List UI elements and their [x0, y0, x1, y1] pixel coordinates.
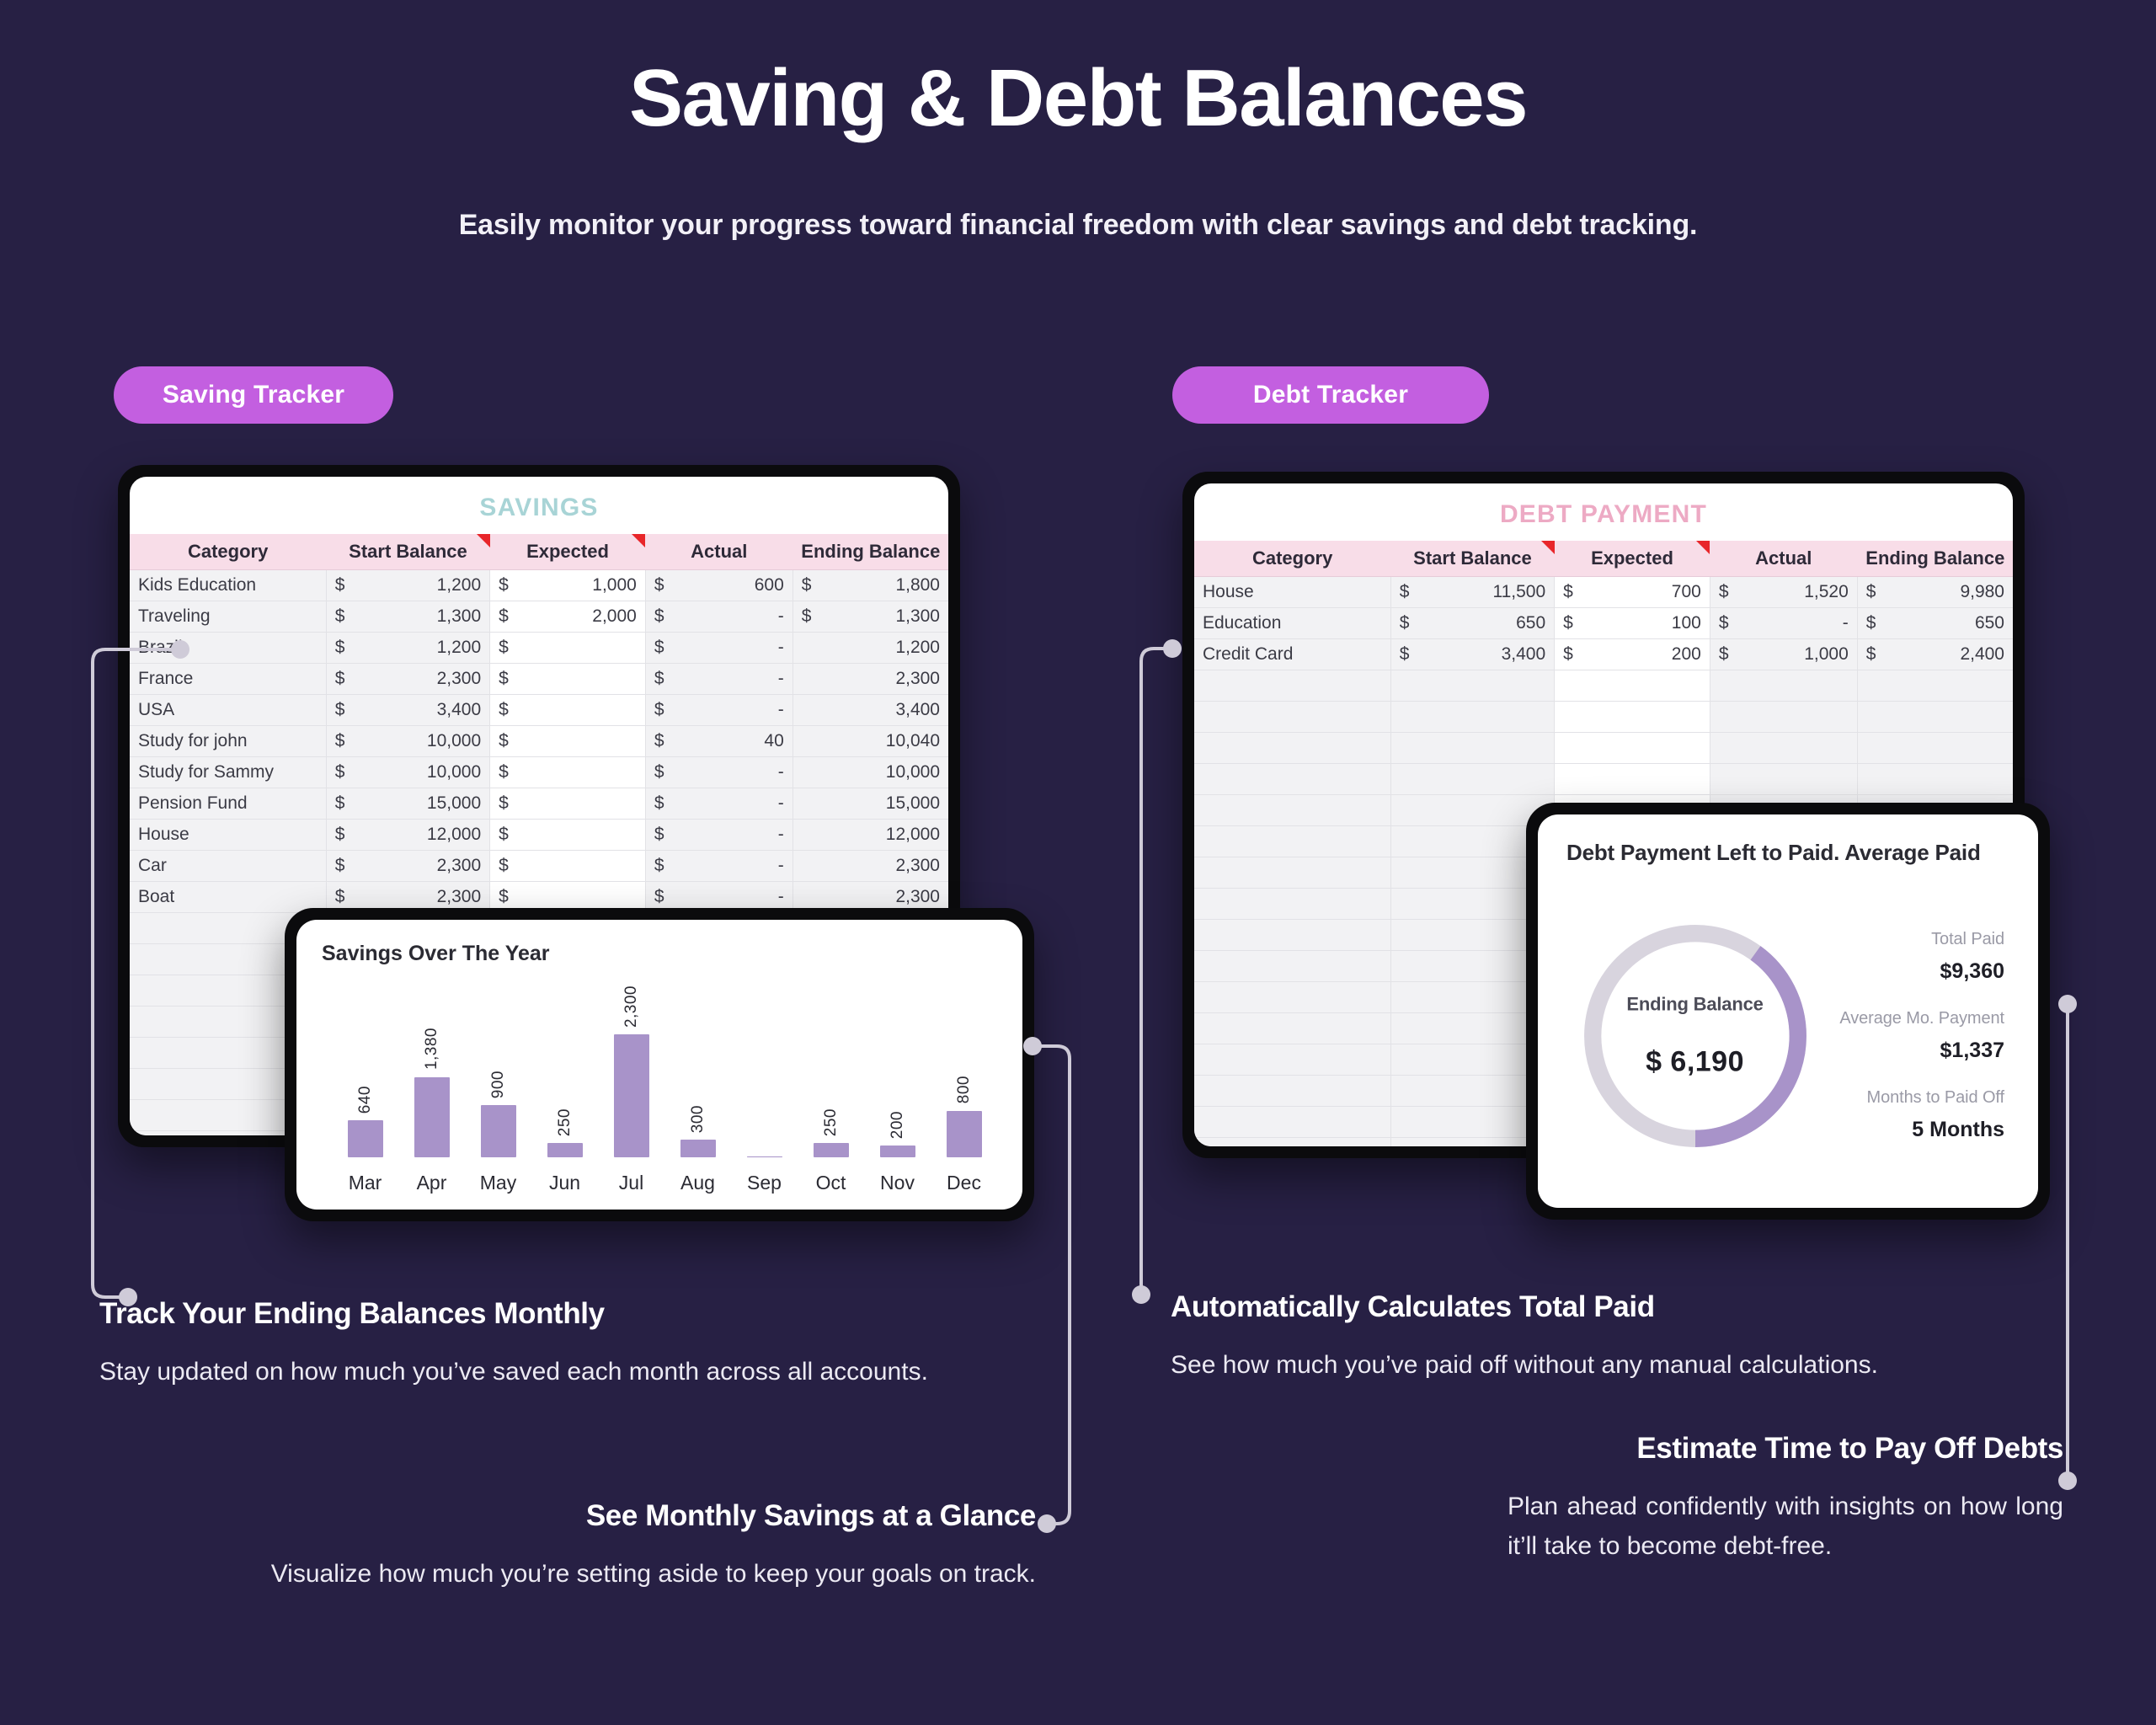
donut-card-title: Debt Payment Left to Paid. Average Paid	[1566, 840, 2009, 866]
currency-symbol: $	[1719, 613, 1729, 633]
cell-c-end[interactable]: 10,040	[792, 725, 948, 756]
cell-c-act[interactable]: $1,000	[1710, 638, 1857, 670]
cell-value: -	[778, 856, 784, 876]
col-expected[interactable]: Expected	[490, 534, 646, 569]
currency-symbol: $	[1400, 582, 1410, 602]
currency-symbol: $	[654, 700, 664, 720]
connector-dot	[1163, 639, 1182, 658]
currency-symbol: $	[335, 887, 345, 907]
cell-c-start[interactable]	[1390, 701, 1554, 732]
cell-category[interactable]	[1194, 1075, 1390, 1106]
table-row-empty[interactable]	[1194, 701, 2013, 732]
bar-value-label: 800	[955, 1076, 974, 1103]
donut-stats-list: Total Paid$9,360Average Mo. Payment$1,33…	[1823, 887, 2009, 1184]
table-row[interactable]: Brazil$1,200$$-1,200	[130, 632, 948, 663]
donut-stat: Total Paid$9,360	[1823, 930, 2004, 984]
cell-c-act[interactable]	[1710, 732, 1857, 763]
currency-symbol: $	[499, 887, 509, 907]
currency-symbol: $	[1563, 613, 1573, 633]
cell-value: 2,300	[895, 669, 940, 689]
cell-c-end[interactable]	[1857, 763, 2013, 794]
cell-value: 12,000	[886, 825, 940, 845]
cell-value: 600	[755, 575, 784, 595]
cell-c-end[interactable]: 2,300	[792, 850, 948, 881]
currency-symbol: $	[499, 606, 509, 627]
col-actual[interactable]: Actual	[1710, 541, 1857, 576]
cell-category[interactable]: Car	[130, 850, 326, 881]
currency-symbol: $	[1866, 582, 1876, 602]
table-row[interactable]: Study for john$10,000$$4010,040	[130, 725, 948, 756]
cell-category[interactable]	[1194, 919, 1390, 950]
currency-symbol: $	[499, 762, 509, 782]
debt-sheet-title: DEBT PAYMENT	[1194, 483, 2013, 541]
bar[interactable]	[814, 1143, 849, 1157]
currency-symbol: $	[499, 700, 509, 720]
cell-value: 1,000	[1804, 644, 1849, 665]
col-category[interactable]: Category	[130, 534, 326, 569]
debt-table-head: Category Start Balance Expected Actual E…	[1194, 541, 2013, 576]
x-axis-label: Jul	[598, 1172, 664, 1194]
cell-value: -	[778, 638, 784, 658]
cell-value: -	[778, 793, 784, 814]
table-row[interactable]: Traveling$1,300$2,000$-$1,300	[130, 601, 948, 632]
cell-c-act[interactable]: $-	[645, 663, 792, 694]
currency-symbol: $	[654, 575, 664, 595]
cell-category[interactable]: Credit Card	[1194, 638, 1390, 670]
currency-symbol: $	[499, 793, 509, 814]
currency-symbol: $	[335, 856, 345, 876]
caption-body: Stay updated on how much you’ve saved ea…	[99, 1353, 992, 1392]
cell-category[interactable]	[1194, 794, 1390, 825]
cell-c-end[interactable]: 10,000	[792, 756, 948, 788]
cell-c-exp[interactable]	[1555, 732, 1710, 763]
cell-value: 200	[1672, 644, 1701, 665]
savings-sheet-title: SAVINGS	[130, 477, 948, 534]
cell-c-exp white[interactable]: $700	[1555, 576, 1710, 607]
cell-value: 3,400	[895, 700, 940, 720]
currency-symbol: $	[335, 762, 345, 782]
donut-stat: Average Mo. Payment$1,337	[1823, 1009, 2004, 1063]
cell-c-exp white[interactable]: $	[490, 725, 646, 756]
currency-symbol: $	[335, 793, 345, 814]
col-ending-balance[interactable]: Ending Balance	[1857, 541, 2013, 576]
currency-symbol: $	[335, 700, 345, 720]
currency-symbol: $	[654, 638, 664, 658]
savings-chart-tablet: Savings Over The Year 6401,3809002502,30…	[285, 908, 1034, 1221]
currency-symbol: $	[1563, 644, 1573, 665]
cell-value: 1,200	[437, 575, 482, 595]
bar-column[interactable]: 200	[864, 985, 931, 1157]
cell-category[interactable]	[1194, 981, 1390, 1012]
cell-value: 15,000	[886, 793, 940, 814]
flag-triangle-icon	[477, 534, 490, 547]
cell-value: 10,040	[886, 731, 940, 751]
currency-symbol: $	[499, 669, 509, 689]
cell-c-start[interactable]: $10,000	[326, 725, 489, 756]
cell-value: 40	[764, 731, 783, 751]
cell-category[interactable]: Education	[1194, 607, 1390, 638]
cell-category[interactable]: Study for Sammy	[130, 756, 326, 788]
bar-value-label: 250	[556, 1108, 574, 1136]
x-axis-label: Dec	[931, 1172, 997, 1194]
cell-c-act[interactable]: $1,520	[1710, 576, 1857, 607]
connector-dot	[2058, 995, 2077, 1013]
cell-c-exp white[interactable]: $	[490, 788, 646, 819]
cell-c-start[interactable]: $12,000	[326, 819, 489, 850]
cell-value: 2,300	[437, 669, 482, 689]
cell-c-act[interactable]: $600	[645, 569, 792, 601]
currency-symbol: $	[335, 669, 345, 689]
table-row[interactable]: Kids Education$1,200$1,000$600$1,800	[130, 569, 948, 601]
cell-value: 3,400	[1502, 644, 1546, 665]
bar-value-label: 640	[356, 1086, 375, 1114]
cell-c-start[interactable]: $2,300	[326, 663, 489, 694]
caption-track-ending-balances: Track Your Ending Balances Monthly Stay …	[99, 1297, 992, 1392]
cell-value: -	[778, 762, 784, 782]
bar-value-label: 2,300	[622, 985, 641, 1028]
cell-value: 2,300	[895, 887, 940, 907]
currency-symbol: $	[654, 762, 664, 782]
cell-value: 1,300	[437, 606, 482, 627]
cell-value: -	[778, 669, 784, 689]
cell-category[interactable]	[1194, 1137, 1390, 1146]
bar[interactable]	[947, 1111, 982, 1157]
x-axis-label: Mar	[332, 1172, 398, 1194]
bar-value-label: 300	[689, 1105, 707, 1133]
cell-value: 11,500	[1492, 582, 1545, 602]
currency-symbol: $	[654, 856, 664, 876]
cell-value: 1,300	[895, 606, 940, 627]
currency-symbol: $	[499, 856, 509, 876]
col-start-balance-label: Start Balance	[1413, 547, 1532, 569]
cell-category[interactable]	[1194, 732, 1390, 763]
bar[interactable]	[680, 1140, 716, 1157]
badge-saving-tracker[interactable]: Saving Tracker	[114, 366, 393, 424]
x-axis-label: Aug	[664, 1172, 731, 1194]
cell-c-end[interactable]: 12,000	[792, 819, 948, 850]
cell-category[interactable]	[1194, 701, 1390, 732]
cell-value: 700	[1672, 582, 1701, 602]
cell-c-exp white[interactable]: $	[490, 694, 646, 725]
cell-category[interactable]	[1194, 825, 1390, 857]
flag-triangle-icon	[632, 534, 645, 547]
cell-value: 3,400	[437, 700, 482, 720]
bar-column[interactable]: 250	[531, 985, 598, 1157]
cell-c-start[interactable]: $1,300	[326, 601, 489, 632]
bar[interactable]	[747, 1156, 782, 1157]
cell-c-end[interactable]: 1,200	[792, 632, 948, 663]
cell-c-exp[interactable]	[1555, 763, 1710, 794]
cell-c-exp white[interactable]: $2,000	[490, 601, 646, 632]
table-row-empty[interactable]	[1194, 763, 2013, 794]
cell-c-start[interactable]: $650	[1390, 607, 1554, 638]
cell-c-exp white[interactable]: $	[490, 756, 646, 788]
cell-value: 10,000	[886, 762, 940, 782]
cell-c-exp white[interactable]: $	[490, 850, 646, 881]
cell-c-exp[interactable]	[1555, 670, 1710, 701]
cell-c-exp white[interactable]: $	[490, 663, 646, 694]
cell-category[interactable]: Study for john	[130, 725, 326, 756]
cell-c-exp white[interactable]: $	[490, 632, 646, 663]
currency-symbol: $	[1400, 613, 1410, 633]
currency-symbol: $	[802, 606, 812, 627]
col-start-balance[interactable]: Start Balance	[326, 534, 489, 569]
currency-symbol: $	[654, 669, 664, 689]
currency-symbol: $	[1719, 582, 1729, 602]
currency-symbol: $	[654, 731, 664, 751]
col-start-balance-label: Start Balance	[349, 541, 467, 562]
debt-donut-tablet: Debt Payment Left to Paid. Average Paid …	[1526, 803, 2050, 1220]
table-row[interactable]: House$12,000$$-12,000	[130, 819, 948, 850]
cell-value: 1,800	[895, 575, 940, 595]
bar-value-label: 900	[489, 1071, 508, 1098]
cell-c-act[interactable]: $-	[645, 632, 792, 663]
cell-c-end[interactable]: $9,980	[1857, 576, 2013, 607]
table-row[interactable]: House$11,500$700$1,520$9,980	[1194, 576, 2013, 607]
cell-category[interactable]: USA	[130, 694, 326, 725]
cell-value: 2,300	[895, 856, 940, 876]
currency-symbol: $	[654, 887, 664, 907]
caption-estimate-time-pay-off: Estimate Time to Pay Off Debts Plan ahea…	[1508, 1432, 2063, 1566]
x-axis-label: Oct	[798, 1172, 864, 1194]
table-row[interactable]: Car$2,300$$-2,300	[130, 850, 948, 881]
savings-chart-screen: Savings Over The Year 6401,3809002502,30…	[296, 920, 1022, 1210]
bar[interactable]	[348, 1120, 383, 1157]
bar[interactable]	[481, 1105, 516, 1157]
cell-value: 2,300	[437, 887, 482, 907]
bar-value-label: 1,380	[423, 1028, 441, 1070]
cell-value: 10,000	[427, 731, 481, 751]
cell-c-start[interactable]: $3,400	[326, 694, 489, 725]
cell-category[interactable]: Kids Education	[130, 569, 326, 601]
cell-c-exp white[interactable]: $100	[1555, 607, 1710, 638]
cell-c-act[interactable]	[1710, 670, 1857, 701]
cell-c-act[interactable]: $-	[645, 850, 792, 881]
bar-column[interactable]	[731, 985, 798, 1157]
cell-c-act[interactable]: $-	[645, 819, 792, 850]
cell-c-start[interactable]: $1,200	[326, 569, 489, 601]
cell-c-start[interactable]	[1390, 763, 1554, 794]
chart-title: Savings Over The Year	[322, 942, 997, 966]
debt-header-row: Category Start Balance Expected Actual E…	[1194, 541, 2013, 576]
cell-c-exp white[interactable]: $1,000	[490, 569, 646, 601]
bar-column[interactable]: 300	[664, 985, 731, 1157]
cell-c-end[interactable]: $1,800	[792, 569, 948, 601]
cell-category[interactable]: Pension Fund	[130, 788, 326, 819]
cell-category[interactable]	[1194, 857, 1390, 888]
chart-bars: 6401,3809002502,300300250200800	[332, 985, 997, 1157]
connector-dot	[1132, 1285, 1150, 1304]
cell-value: 1,520	[1804, 582, 1849, 602]
currency-symbol: $	[1719, 644, 1729, 665]
cell-c-end[interactable]: 2,300	[792, 663, 948, 694]
cell-category[interactable]: House	[1194, 576, 1390, 607]
col-actual[interactable]: Actual	[645, 534, 792, 569]
cell-c-start[interactable]	[1390, 732, 1554, 763]
caption-body: See how much you’ve paid off without any…	[1171, 1346, 2013, 1386]
donut-center-label: Ending Balance	[1566, 993, 1823, 1015]
cell-c-start[interactable]: $11,500	[1390, 576, 1554, 607]
cell-value: 2,300	[437, 856, 482, 876]
cell-c-end[interactable]: $650	[1857, 607, 2013, 638]
cell-category[interactable]: Traveling	[130, 601, 326, 632]
cell-c-act[interactable]: $-	[645, 756, 792, 788]
cell-c-end[interactable]	[1857, 732, 2013, 763]
cell-c-end[interactable]	[1857, 701, 2013, 732]
col-category[interactable]: Category	[1194, 541, 1390, 576]
cell-category[interactable]	[1194, 1044, 1390, 1075]
table-row[interactable]: Credit Card$3,400$200$1,000$2,400	[1194, 638, 2013, 670]
x-axis-label: Nov	[864, 1172, 931, 1194]
flag-triangle-icon	[1541, 541, 1555, 554]
donut-card-body: Ending Balance $ 6,190 Total Paid$9,360A…	[1566, 887, 2009, 1184]
currency-symbol: $	[499, 731, 509, 751]
col-start-balance[interactable]: Start Balance	[1390, 541, 1554, 576]
currency-symbol: $	[335, 825, 345, 845]
cell-value: 2,400	[1960, 644, 2004, 665]
donut-stat-value: 5 Months	[1823, 1118, 2004, 1142]
table-row-empty[interactable]	[1194, 670, 2013, 701]
cell-c-start[interactable]: $10,000	[326, 756, 489, 788]
cell-category[interactable]: France	[130, 663, 326, 694]
bar-column[interactable]: 640	[332, 985, 398, 1157]
savings-bar-chart: Savings Over The Year 6401,3809002502,30…	[296, 920, 1022, 1210]
currency-symbol: $	[335, 575, 345, 595]
chart-x-axis-labels: MarAprMayJunJulAugSepOctNovDec	[332, 1172, 997, 1194]
badge-debt-tracker[interactable]: Debt Tracker	[1172, 366, 1489, 424]
cell-c-exp white[interactable]: $	[490, 819, 646, 850]
col-ending-balance[interactable]: Ending Balance	[792, 534, 948, 569]
cell-c-act[interactable]: $-	[645, 788, 792, 819]
currency-symbol: $	[1563, 582, 1573, 602]
cell-value: -	[778, 606, 784, 627]
currency-symbol: $	[335, 606, 345, 627]
donut-stat-value: $9,360	[1823, 959, 2004, 984]
cell-value: 100	[1672, 613, 1701, 633]
table-row[interactable]: Education$650$100$-$650	[1194, 607, 2013, 638]
cell-c-start[interactable]: $1,200	[326, 632, 489, 663]
cell-c-act[interactable]	[1710, 701, 1857, 732]
caption-body: Plan ahead confidently with insights on …	[1508, 1487, 2063, 1566]
bar[interactable]	[880, 1146, 915, 1157]
currency-symbol: $	[1400, 644, 1410, 665]
connector-debt-table	[1141, 649, 1171, 1293]
table-row[interactable]: USA$3,400$$-3,400	[130, 694, 948, 725]
infographic-page: Saving & Debt Balances Easily monitor yo…	[0, 0, 2156, 1725]
page-subtitle: Easily monitor your progress toward fina…	[0, 209, 2156, 242]
cell-c-end[interactable]: 15,000	[792, 788, 948, 819]
col-expected-label: Expected	[526, 541, 609, 562]
cell-c-exp[interactable]	[1555, 701, 1710, 732]
donut-stat-label: Months to Paid Off	[1823, 1088, 2004, 1108]
cell-category[interactable]: Brazil	[130, 632, 326, 663]
cell-c-act[interactable]: $-	[645, 694, 792, 725]
debt-donut-screen: Debt Payment Left to Paid. Average Paid …	[1538, 814, 2038, 1208]
cell-value: 1,200	[895, 638, 940, 658]
cell-value: 15,000	[427, 793, 481, 814]
col-expected[interactable]: Expected	[1555, 541, 1710, 576]
connector-dot	[1038, 1514, 1056, 1533]
currency-symbol: $	[335, 731, 345, 751]
cell-value: 9,980	[1960, 582, 2004, 602]
page-title: Saving & Debt Balances	[0, 52, 2156, 145]
x-axis-label: Sep	[731, 1172, 798, 1194]
cell-c-exp white[interactable]: $200	[1555, 638, 1710, 670]
caption-auto-calculates-total-paid: Automatically Calculates Total Paid See …	[1171, 1290, 2013, 1386]
savings-table-head: Category Start Balance Expected Actual E…	[130, 534, 948, 569]
savings-header-row: Category Start Balance Expected Actual E…	[130, 534, 948, 569]
cell-value: 12,000	[427, 825, 481, 845]
currency-symbol: $	[335, 638, 345, 658]
cell-c-end[interactable]: $1,300	[792, 601, 948, 632]
currency-symbol: $	[654, 825, 664, 845]
donut-chart: Ending Balance $ 6,190	[1566, 887, 1823, 1184]
currency-symbol: $	[1866, 644, 1876, 665]
col-expected-label: Expected	[1591, 547, 1673, 569]
cell-category[interactable]	[1194, 763, 1390, 794]
table-row[interactable]: France$2,300$$-2,300	[130, 663, 948, 694]
cell-c-start[interactable]	[1390, 670, 1554, 701]
cell-c-end[interactable]: 3,400	[792, 694, 948, 725]
cell-value: 650	[1516, 613, 1545, 633]
cell-category[interactable]	[1194, 950, 1390, 981]
x-axis-label: Jun	[531, 1172, 598, 1194]
donut-stat: Months to Paid Off5 Months	[1823, 1088, 2004, 1142]
bar[interactable]	[614, 1034, 649, 1157]
table-row-empty[interactable]	[1194, 732, 2013, 763]
cell-c-start[interactable]: $3,400	[1390, 638, 1554, 670]
cell-c-end[interactable]	[1857, 670, 2013, 701]
debt-donut-card: Debt Payment Left to Paid. Average Paid …	[1538, 814, 2038, 1208]
cell-category[interactable]	[1194, 670, 1390, 701]
cell-value: 10,000	[427, 762, 481, 782]
cell-c-end[interactable]: $2,400	[1857, 638, 2013, 670]
bar[interactable]	[414, 1077, 450, 1157]
caption-heading: See Monthly Savings at a Glance	[253, 1499, 1036, 1533]
bar-column[interactable]: 900	[465, 985, 531, 1157]
bar[interactable]	[547, 1143, 583, 1157]
bar-column[interactable]: 250	[798, 985, 864, 1157]
cell-c-start[interactable]: $2,300	[326, 850, 489, 881]
cell-value: -	[778, 825, 784, 845]
cell-c-act[interactable]: $-	[645, 601, 792, 632]
bar-column[interactable]: 2,300	[598, 985, 664, 1157]
cell-category[interactable]	[1194, 1106, 1390, 1137]
cell-category[interactable]	[1194, 1012, 1390, 1044]
bar-column[interactable]: 1,380	[398, 985, 465, 1157]
bar-column[interactable]: 800	[931, 985, 997, 1157]
bar-value-label: 200	[889, 1111, 907, 1139]
cell-c-act[interactable]	[1710, 763, 1857, 794]
caption-heading: Automatically Calculates Total Paid	[1171, 1290, 2013, 1324]
table-row[interactable]: Study for Sammy$10,000$$-10,000	[130, 756, 948, 788]
caption-body: Visualize how much you’re setting aside …	[253, 1555, 1036, 1594]
caption-heading: Estimate Time to Pay Off Debts	[1508, 1432, 2063, 1466]
cell-category[interactable]: House	[130, 819, 326, 850]
cell-value: -	[778, 887, 784, 907]
caption-monthly-savings-glance: See Monthly Savings at a Glance Visualiz…	[253, 1499, 1036, 1594]
cell-c-start[interactable]: $15,000	[326, 788, 489, 819]
cell-category[interactable]: Boat	[130, 881, 326, 912]
currency-symbol: $	[499, 638, 509, 658]
cell-c-act[interactable]: $40	[645, 725, 792, 756]
cell-category[interactable]	[1194, 888, 1390, 919]
table-row[interactable]: Pension Fund$15,000$$-15,000	[130, 788, 948, 819]
donut-center-text: Ending Balance $ 6,190	[1566, 993, 1823, 1078]
flag-triangle-icon	[1696, 541, 1710, 554]
caption-heading: Track Your Ending Balances Monthly	[99, 1297, 992, 1331]
cell-c-act[interactable]: $-	[1710, 607, 1857, 638]
